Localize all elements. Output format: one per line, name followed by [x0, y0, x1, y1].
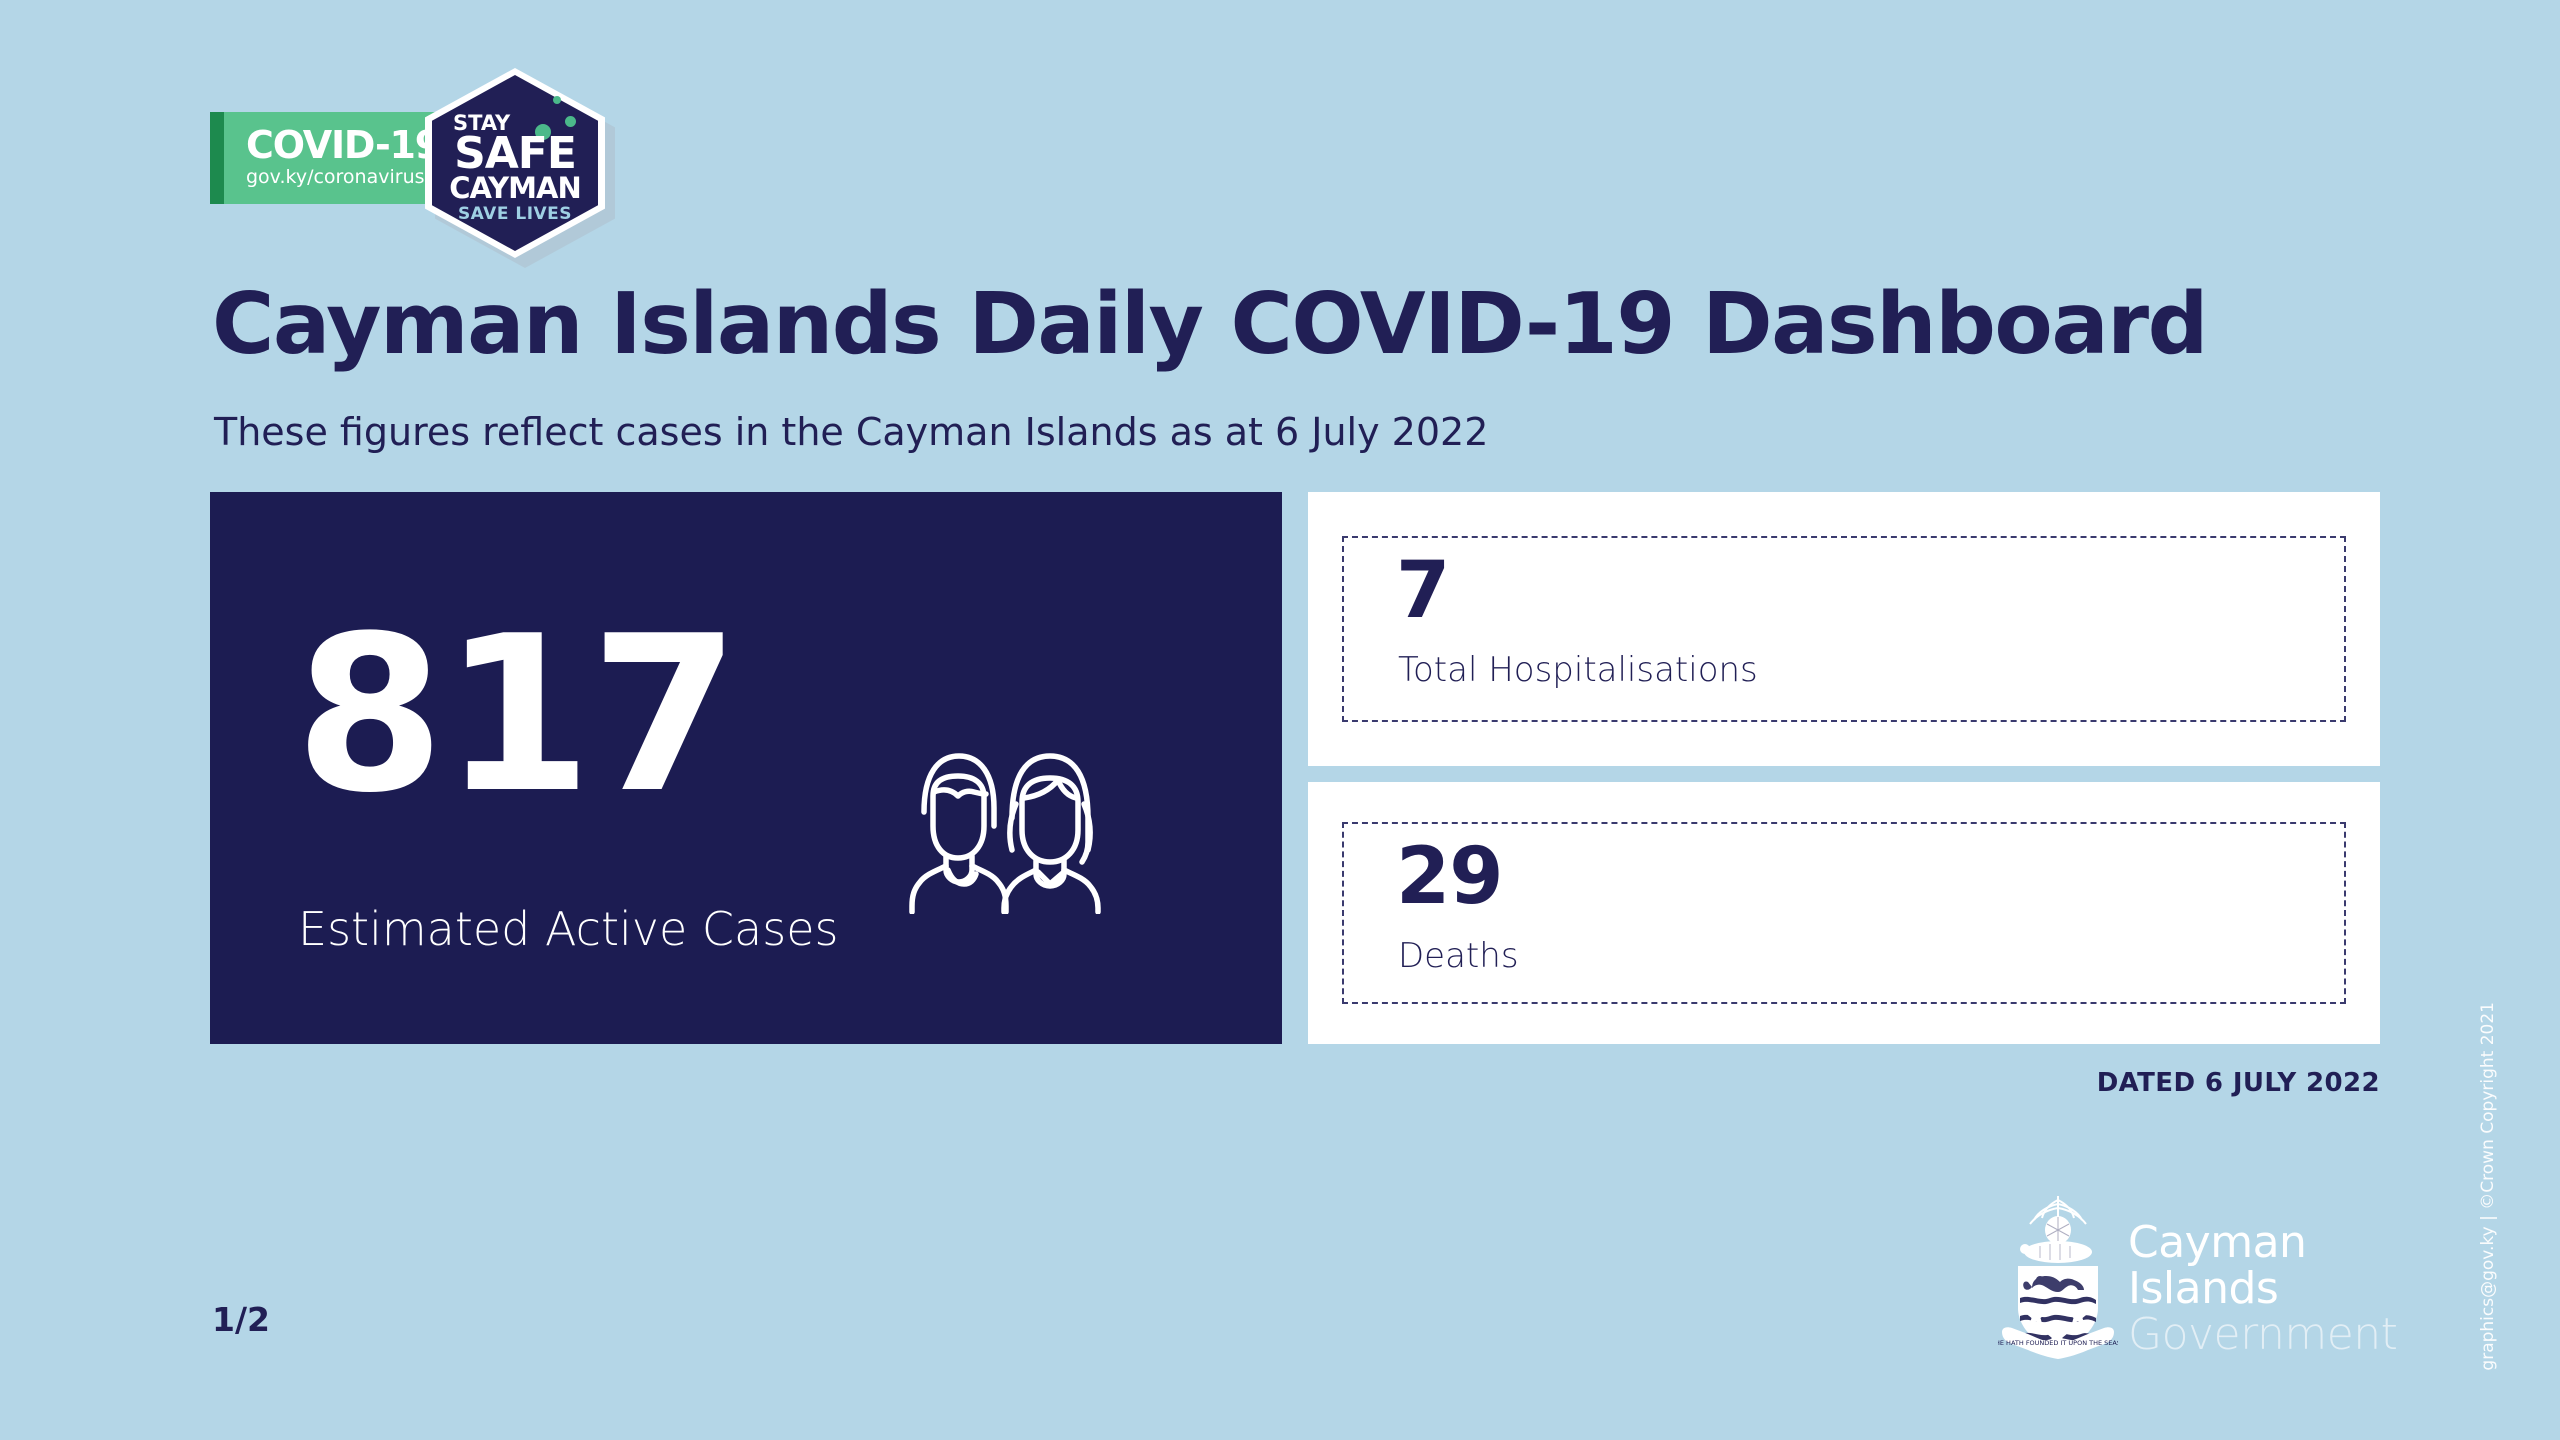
badge-line-save-lives: SAVE LIVES: [458, 206, 572, 223]
hospitalisations-dashed-frame: 7 Total Hospitalisations: [1342, 536, 2346, 722]
government-wordmark: Cayman Islands Government: [2128, 1220, 2408, 1359]
two-people-icon: [900, 734, 1115, 919]
page-subtitle: These figures reflect cases in the Cayma…: [214, 410, 1488, 454]
stay-safe-badge-text: STAY SAFE CAYMAN SAVE LIVES: [425, 68, 605, 258]
badge-line-cayman: CAYMAN: [449, 174, 581, 203]
hospitalisations-label: Total Hospitalisations: [1398, 650, 1758, 690]
government-wordmark-line2: Government: [2128, 1312, 2408, 1358]
page-title: Cayman Islands Daily COVID-19 Dashboard: [212, 275, 2207, 374]
government-wordmark-line1: Cayman Islands: [2128, 1220, 2408, 1312]
svg-text:HE HATH FOUNDED IT UPON THE SE: HE HATH FOUNDED IT UPON THE SEAS: [1998, 1339, 2118, 1347]
hospitalisations-card: 7 Total Hospitalisations: [1308, 492, 2380, 766]
cayman-islands-government-logo: HE HATH FOUNDED IT UPON THE SEAS Cayman …: [1998, 1192, 2408, 1372]
active-cases-value: 817: [295, 607, 738, 822]
copyright-text: graphics@gov.ky | ©Crown Copyright 2021: [2478, 1002, 2498, 1371]
page-number: 1/2: [212, 1300, 270, 1339]
badge-line-safe: SAFE: [454, 134, 576, 174]
hospitalisations-value: 7: [1396, 552, 1449, 630]
dated-text: DATED 6 JULY 2022: [0, 1068, 2380, 1098]
deaths-label: Deaths: [1398, 936, 1519, 976]
covid-badge-edge-accent: [210, 112, 224, 204]
deaths-dashed-frame: 29 Deaths: [1342, 822, 2346, 1004]
deaths-card: 29 Deaths: [1308, 782, 2380, 1044]
deaths-value: 29: [1396, 838, 1503, 916]
active-cases-label: Estimated Active Cases: [298, 902, 838, 956]
logo-lockup: COVID-19 gov.ky/coronavirus STAY SAFE CA…: [210, 68, 610, 218]
dashboard-page: COVID-19 gov.ky/coronavirus STAY SAFE CA…: [0, 0, 2560, 1440]
coat-of-arms-icon: HE HATH FOUNDED IT UPON THE SEAS: [1998, 1192, 2118, 1367]
stay-safe-cayman-badge: STAY SAFE CAYMAN SAVE LIVES: [425, 68, 605, 258]
active-cases-card: 817 Estimated Active Cases: [210, 492, 1282, 1044]
